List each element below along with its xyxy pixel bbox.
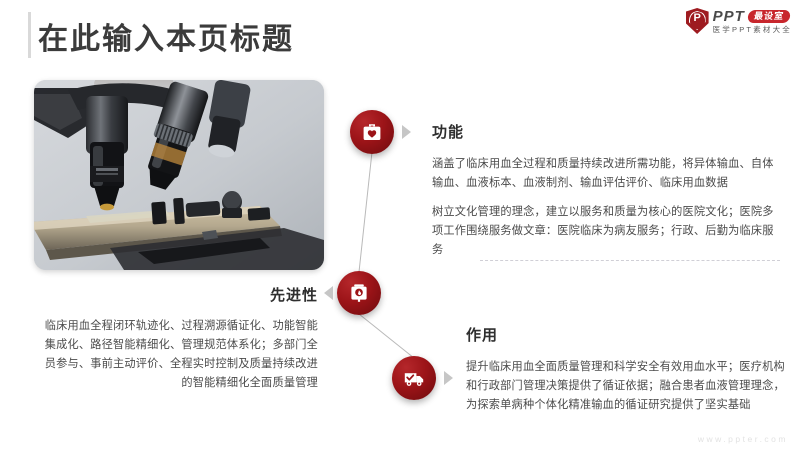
arrow-marker-zuoyong (444, 371, 453, 385)
shield-letter: P (686, 11, 709, 25)
text-block-gongneng: 功能 涵盖了临床用血全过程和质量持续改进所需功能，将异体输血、自体输血、血液标本… (432, 121, 784, 260)
heading-zuoyong: 作用 (466, 324, 786, 345)
ambulance-check-icon (402, 366, 426, 390)
heading-xianjinxing: 先进性 (36, 284, 318, 305)
title-accent-bar (28, 12, 31, 58)
body-xianjinxing: 临床用血全程闭环轨迹化、过程溯源循证化、功能智能集成化、路径智能精细化、管理规范… (36, 317, 318, 393)
body-gongneng-1: 涵盖了临床用血全过程和质量持续改进所需功能，将异体输血、自体输血、血液标本、血液… (432, 155, 784, 193)
body-zuoyong: 提升临床用血全面质量管理和科学安全有效用血水平；医疗机构和行政部门管理决策提供了… (466, 358, 786, 415)
medical-briefcase-heart-icon (360, 120, 384, 144)
body-gongneng-2: 树立文化管理的理念，建立以服务和质量为核心的医院文化；医院多项工作围绕服务做文章… (432, 203, 784, 260)
footer-watermark: www.ppter.com (698, 434, 788, 444)
brand-logo: P PPT 最设室 医学PPT素材大全 (686, 7, 792, 35)
node-icon-gongneng[interactable] (350, 110, 394, 154)
arrow-marker-xianjinxing (324, 286, 333, 300)
text-block-xianjinxing: 先进性 临床用血全程闭环轨迹化、过程溯源循证化、功能智能集成化、路径智能精细化、… (36, 284, 318, 393)
logo-subtitle: 医学PPT素材大全 (713, 25, 792, 34)
logo-text-group: PPT 最设室 医学PPT素材大全 (713, 9, 792, 34)
slide-root: 在此输入本页标题 P PPT 最设室 医学PPT素材大全 (0, 0, 800, 450)
blood-bag-transfusion-icon (347, 281, 371, 305)
dashed-separator (480, 260, 780, 261)
page-title: 在此输入本页标题 (38, 14, 294, 58)
logo-badge: 最设室 (747, 10, 791, 23)
shield-icon: P (686, 8, 709, 34)
logo-wordmark: PPT (713, 9, 745, 24)
microscope-photo (34, 80, 324, 270)
node-icon-zuoyong[interactable] (392, 356, 436, 400)
microscope-illustration (34, 80, 324, 270)
text-block-zuoyong: 作用 提升临床用血全面质量管理和科学安全有效用血水平；医疗机构和行政部门管理决策… (466, 324, 786, 415)
arrow-marker-gongneng (402, 125, 411, 139)
heading-gongneng: 功能 (432, 121, 784, 142)
node-icon-xianjinxing[interactable] (337, 271, 381, 315)
